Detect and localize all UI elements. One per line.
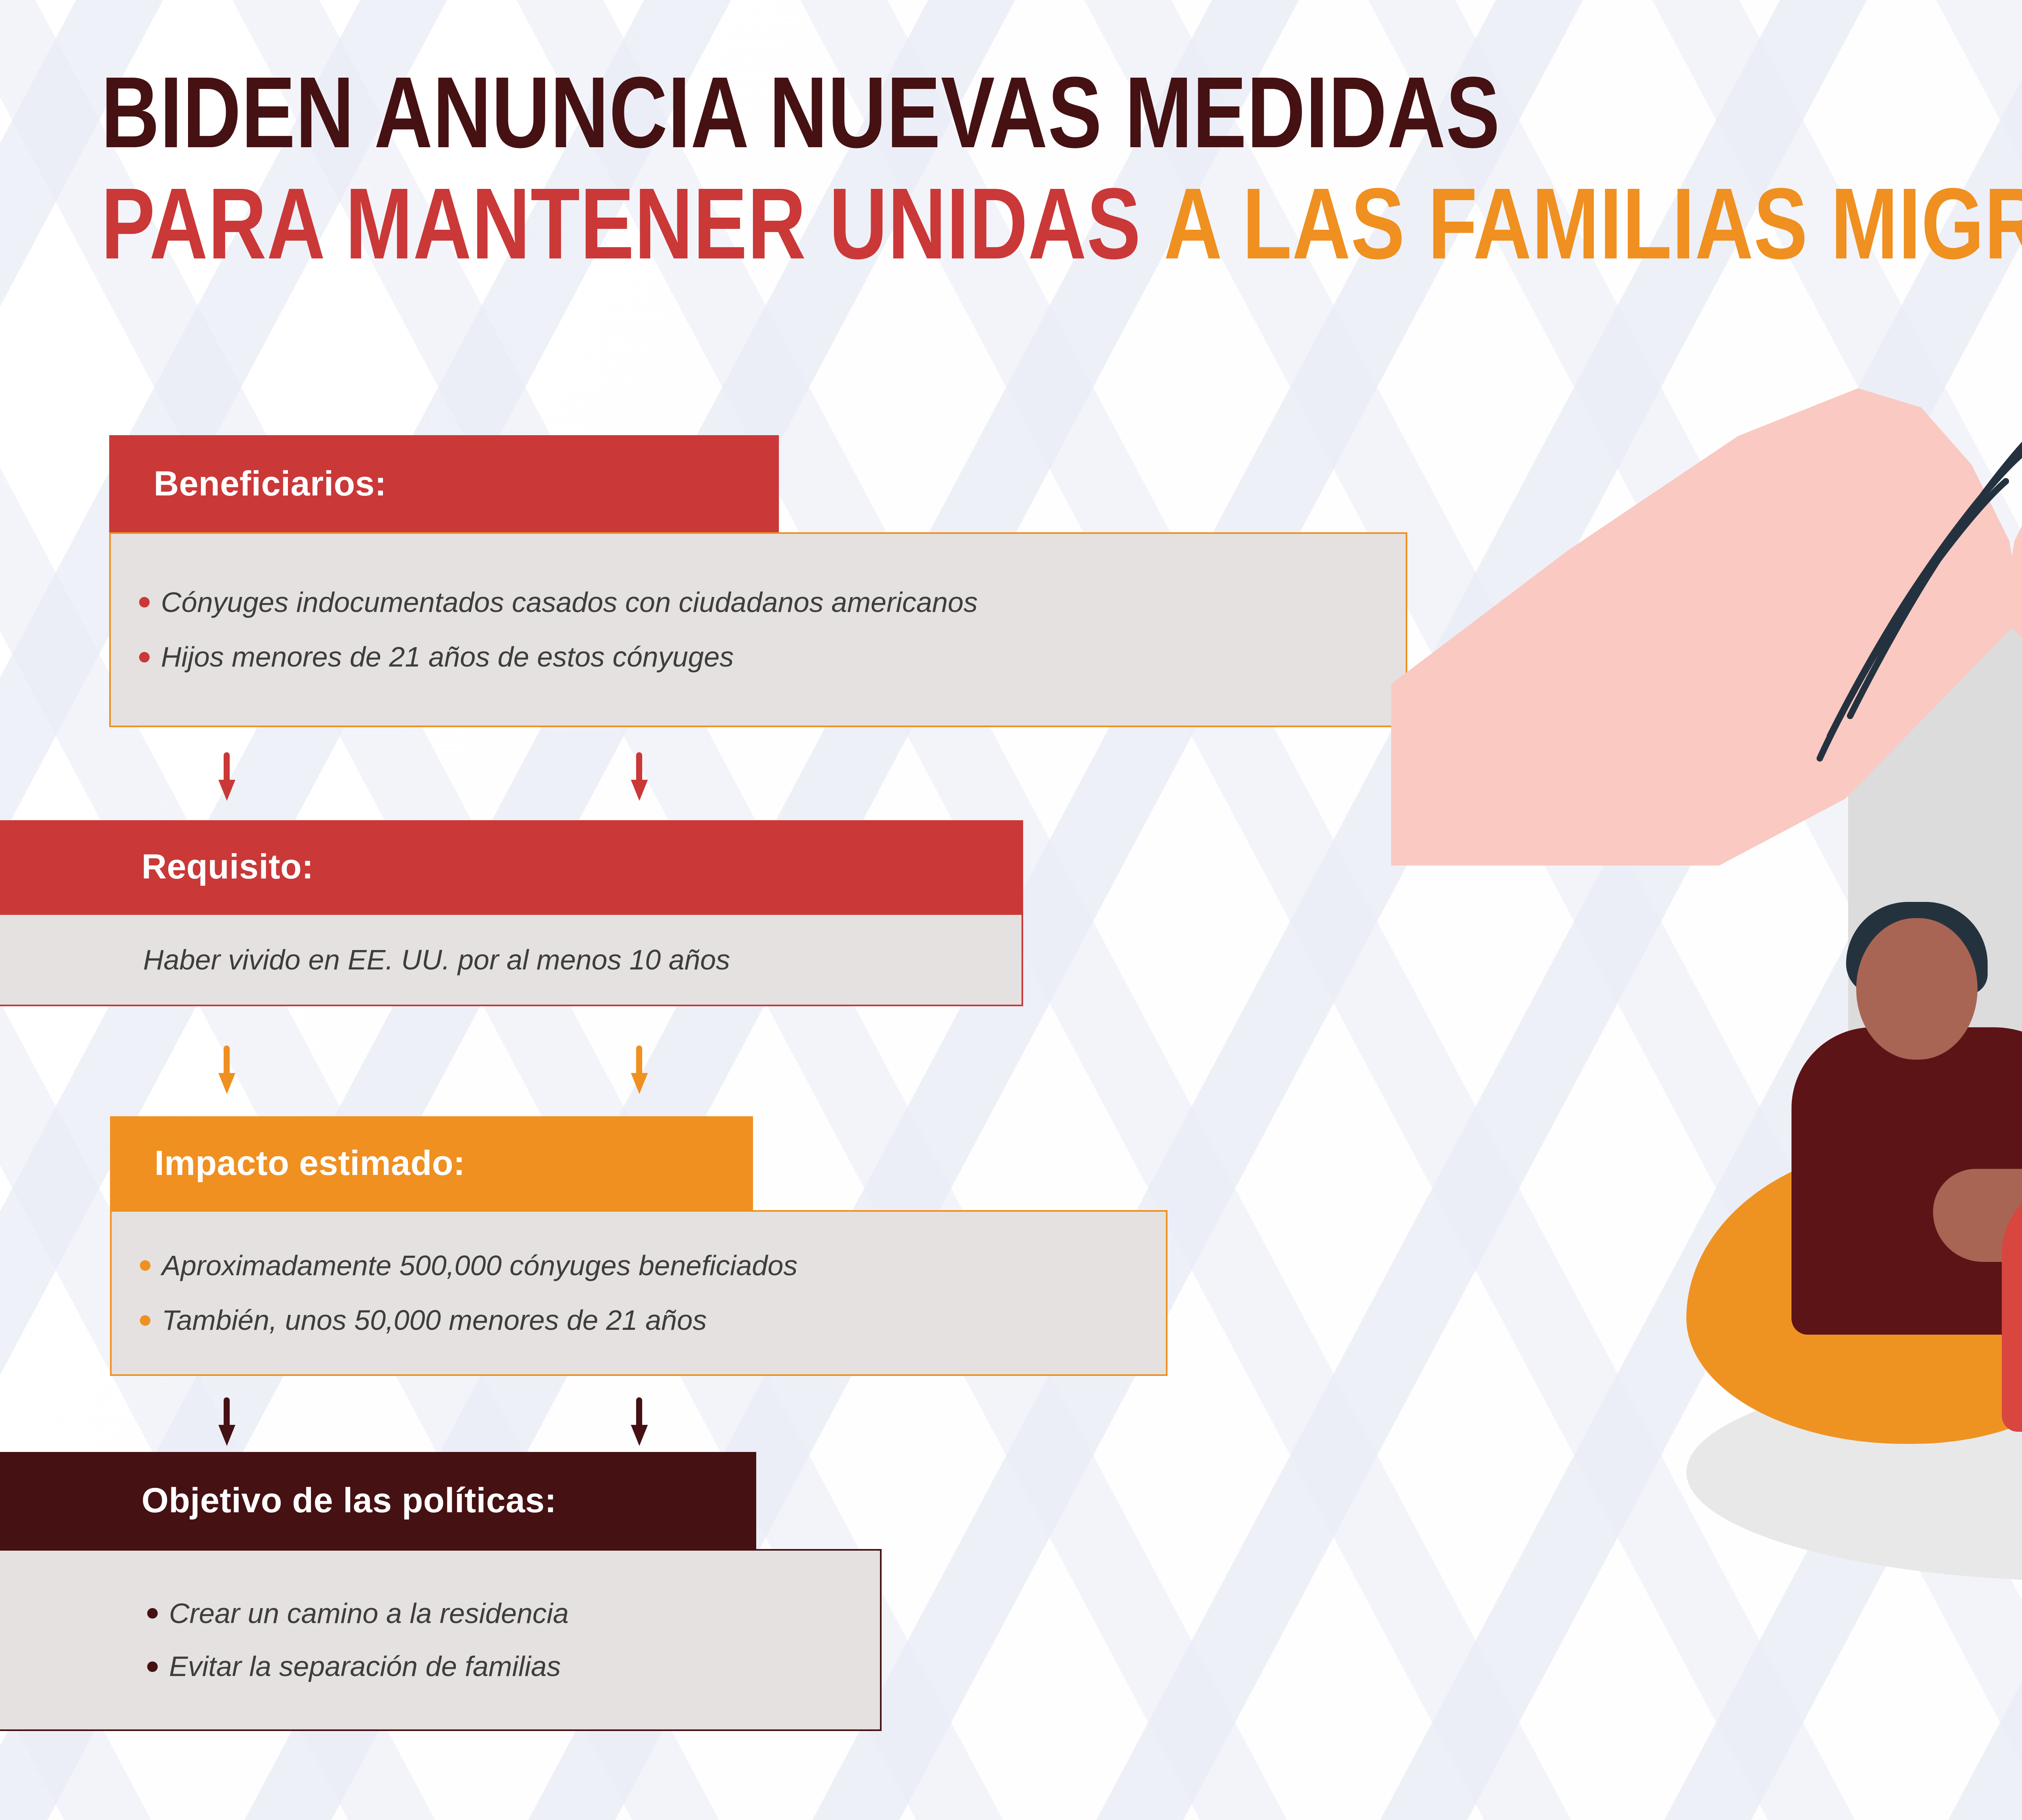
block-objetivo-body: Crear un camino a la residencia Evitar l… [0,1549,882,1731]
arrow-down-icon [218,1045,235,1094]
bullet-dot-icon [140,1315,150,1326]
headline-line-2b-text: A LAS FAMILIAS MIGRANTES [1164,167,2022,280]
block-impacto: Impacto estimado: [110,1116,753,1210]
list-item: Cónyuges indocumentados casados con ciud… [139,585,1381,620]
block-requisito: Requisito: Haber vivido en EE. UU. por a… [0,820,1023,1006]
bullet-dot-icon [139,652,150,662]
block-requisito-body: Haber vivido en EE. UU. por al menos 10 … [0,913,1023,1006]
block-impacto-body: Aproximadamente 500,000 cónyuges benefic… [110,1210,1168,1376]
block-requisito-header: Requisito: [0,820,1023,913]
list-item: Hijos menores de 21 años de estos cónyug… [139,639,1381,675]
list-item-label: Crear un camino a la residencia [169,1596,569,1632]
arrow-down-icon [218,752,235,801]
arrow-down-icon [631,1045,647,1094]
headline-line-2a: PARA MANTENER UNIDAS [101,167,1141,280]
block-beneficiarios-body-wrap: Cónyuges indocumentados casados con ciud… [109,532,1407,727]
list-item: Evitar la separación de familias [147,1649,856,1685]
infographic-poster: BIDEN ANUNCIA NUEVAS MEDIDAS PARA MANTEN… [0,0,2022,1820]
block-impacto-body-wrap: Aproximadamente 500,000 cónyuges benefic… [110,1210,1168,1376]
list-item-label: Haber vivido en EE. UU. por al menos 10 … [143,944,997,976]
block-objetivo-header: Objetivo de las políticas: [0,1452,756,1549]
block-objetivo-body-wrap: Crear un camino a la residencia Evitar l… [0,1549,882,1731]
block-beneficiarios: Beneficiarios: [109,435,779,532]
family-protection-illustration [1436,364,2022,1739]
list-item-label: También, unos 50,000 menores de 21 años [162,1303,707,1338]
list-item: Crear un camino a la residencia [147,1596,856,1632]
list-item: También, unos 50,000 menores de 21 años [140,1303,1142,1338]
hand-finger-outlines [1484,380,2022,785]
bullet-dot-icon [139,597,150,607]
list-item: Aproximadamente 500,000 cónyuges benefic… [140,1248,1142,1284]
block-impacto-header: Impacto estimado: [110,1116,753,1210]
arrow-down-icon [631,752,647,801]
block-beneficiarios-body: Cónyuges indocumentados casados con ciud… [109,532,1407,727]
list-item-label: Hijos menores de 21 años de estos cónyug… [161,639,734,675]
flow-arrows-orange [218,1045,647,1094]
block-objetivo: Objetivo de las políticas: [0,1452,756,1549]
flow-arrows-red [218,752,647,801]
headline-line-1: BIDEN ANUNCIA NUEVAS MEDIDAS [101,57,2022,168]
arrow-down-icon [631,1397,647,1446]
page-title: BIDEN ANUNCIA NUEVAS MEDIDAS PARA MANTEN… [101,57,2022,279]
list-item-label: Evitar la separación de familias [169,1649,561,1685]
list-item-label: Cónyuges indocumentados casados con ciud… [161,585,978,620]
block-beneficiarios-header: Beneficiarios: [109,435,779,532]
flow-arrows-dark [218,1397,647,1446]
bullet-dot-icon [140,1260,150,1271]
list-item-label: Aproximadamente 500,000 cónyuges benefic… [162,1248,797,1284]
headline-line-2: PARA MANTENER UNIDAS A LAS FAMILIAS MIGR… [101,168,2022,279]
bullet-dot-icon [147,1661,158,1672]
headline-line-2b [1141,167,1164,280]
arrow-down-icon [218,1397,235,1446]
father-head [1856,918,1978,1060]
bullet-dot-icon [147,1608,158,1619]
